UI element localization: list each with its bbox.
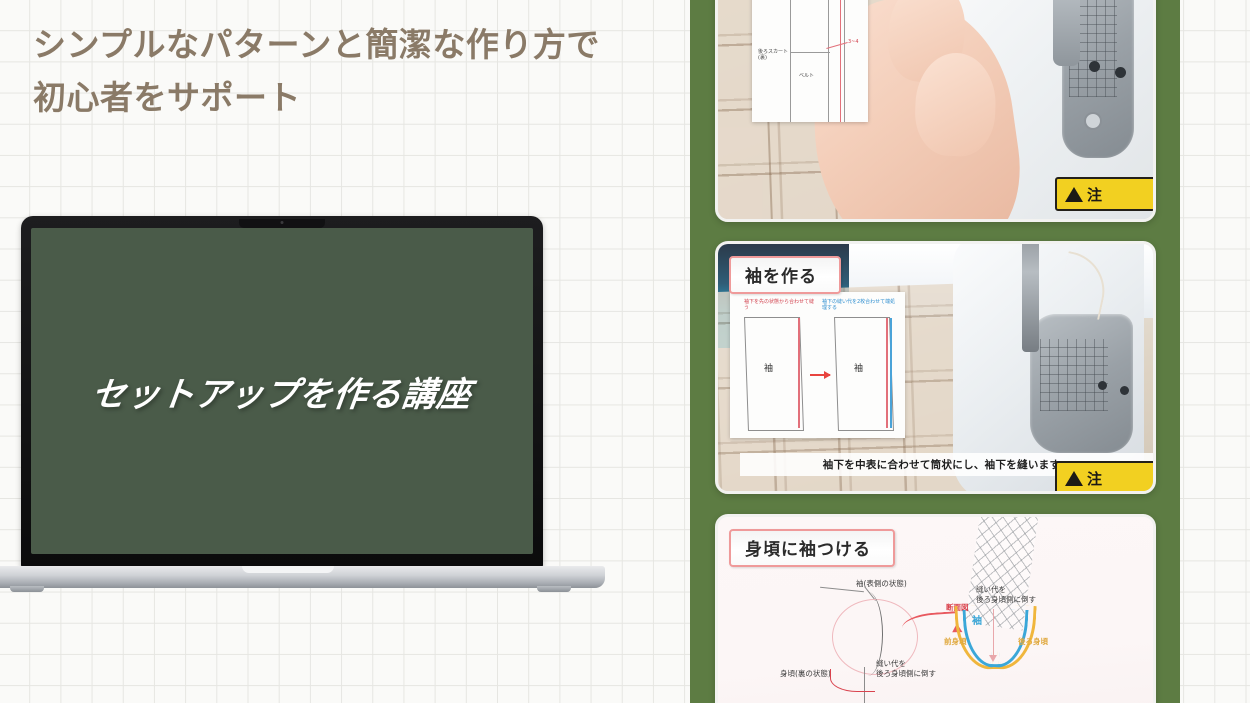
label-front-bodice: 前身頃 (944, 637, 967, 647)
curved-arrow-left (830, 669, 875, 692)
needle-plate-2 (1030, 314, 1133, 453)
pattern-sheet-belt: 後ろスカート (裏) ベルト 3~4 (752, 0, 868, 122)
warning-sticker-2: 注 (1055, 461, 1153, 491)
label-seam-note-right: 縫い代を 後ろ身頃側に倒す (976, 585, 1036, 605)
step-card-attach-sleeve[interactable]: 袖(表側の状態) 身頃(裏の状態) 縫い代を 後ろ身頃側に倒す 断面図 縫い代を… (715, 514, 1156, 703)
warning-label-2: 注 (1087, 468, 1102, 489)
flow-arrow-icon (810, 374, 830, 376)
step-card-belt[interactable]: 後ろスカート (裏) ベルト 3~4 注 ベルトを付ける (715, 0, 1156, 222)
label-sleeve-left: 袖 (764, 364, 773, 375)
laptop-screen: セットアップを作る講座 (31, 228, 533, 554)
warning-label: 注 (1087, 184, 1102, 205)
label-back-bodice: 後ろ身頃 (1018, 637, 1048, 647)
sleeve-panel-left (744, 317, 804, 431)
note-right: 袖下の縫い代を2枚合わせて端処理する (822, 299, 900, 312)
laptop-foot-right (537, 586, 571, 592)
plate-hole-2 (1115, 67, 1126, 78)
plate-screw (1084, 112, 1102, 130)
screen-title: セットアップを作る講座 (89, 367, 475, 416)
laptop-lid: セットアップを作る講座 (21, 216, 543, 568)
warning-sticker: 注 (1055, 177, 1153, 211)
laptop-base (0, 566, 605, 588)
plate-hole-4 (1120, 386, 1129, 395)
laptop-foot-left (10, 586, 44, 592)
laptop-mockup: セットアップを作る講座 (0, 216, 605, 594)
step-badge-attach-sleeve: 身頃に袖つける (729, 529, 895, 567)
warning-triangle-icon (1065, 187, 1083, 202)
camera-icon (281, 221, 284, 224)
sewing-photo-belt: 後ろスカート (裏) ベルト 3~4 注 (718, 0, 1153, 219)
plate-hole-1 (1089, 61, 1100, 72)
step-badge-sleeve: 袖を作る (729, 256, 841, 294)
warning-triangle-icon-2 (1065, 471, 1083, 486)
label-back-skirt: 後ろスカート (裏) (758, 49, 788, 62)
slide-canvas: シンプルなパターンと簡潔な作り方で 初心者をサポート セットアップを作る講座 (0, 0, 1250, 703)
plate-hole-3 (1098, 381, 1107, 390)
steps-panel: 後ろスカート (裏) ベルト 3~4 注 ベルトを付ける (690, 0, 1180, 703)
step-card-sleeve[interactable]: 袖下を先の状態から合わせて縫う 袖下の縫い代を2枚合わせて端処理する 袖 袖 (715, 241, 1156, 494)
presser-foot (1053, 0, 1080, 66)
label-sleeve: 袖 (972, 615, 982, 628)
pattern-sheet-sleeve: 袖下を先の状態から合わせて縫う 袖下の縫い代を2枚合わせて端処理する 袖 袖 (730, 292, 905, 438)
label-seam-note-left: 縫い代を 後ろ身頃側に倒す (876, 659, 936, 679)
thread (1056, 252, 1112, 321)
needle-arm (1022, 244, 1039, 352)
label-measure: 3~4 (848, 39, 859, 45)
label-sleeve-right: 袖 (854, 364, 863, 375)
label-belt: ベルト (799, 73, 814, 79)
page-title: シンプルなパターンと簡潔な作り方で 初心者をサポート (33, 18, 683, 125)
plate-grid-2 (1040, 339, 1108, 411)
label-bodice: 身頃(裏の状態) (780, 669, 831, 679)
note-left: 袖下を先の状態から合わせて縫う (744, 299, 816, 312)
sleeve-panel-right (834, 317, 894, 431)
